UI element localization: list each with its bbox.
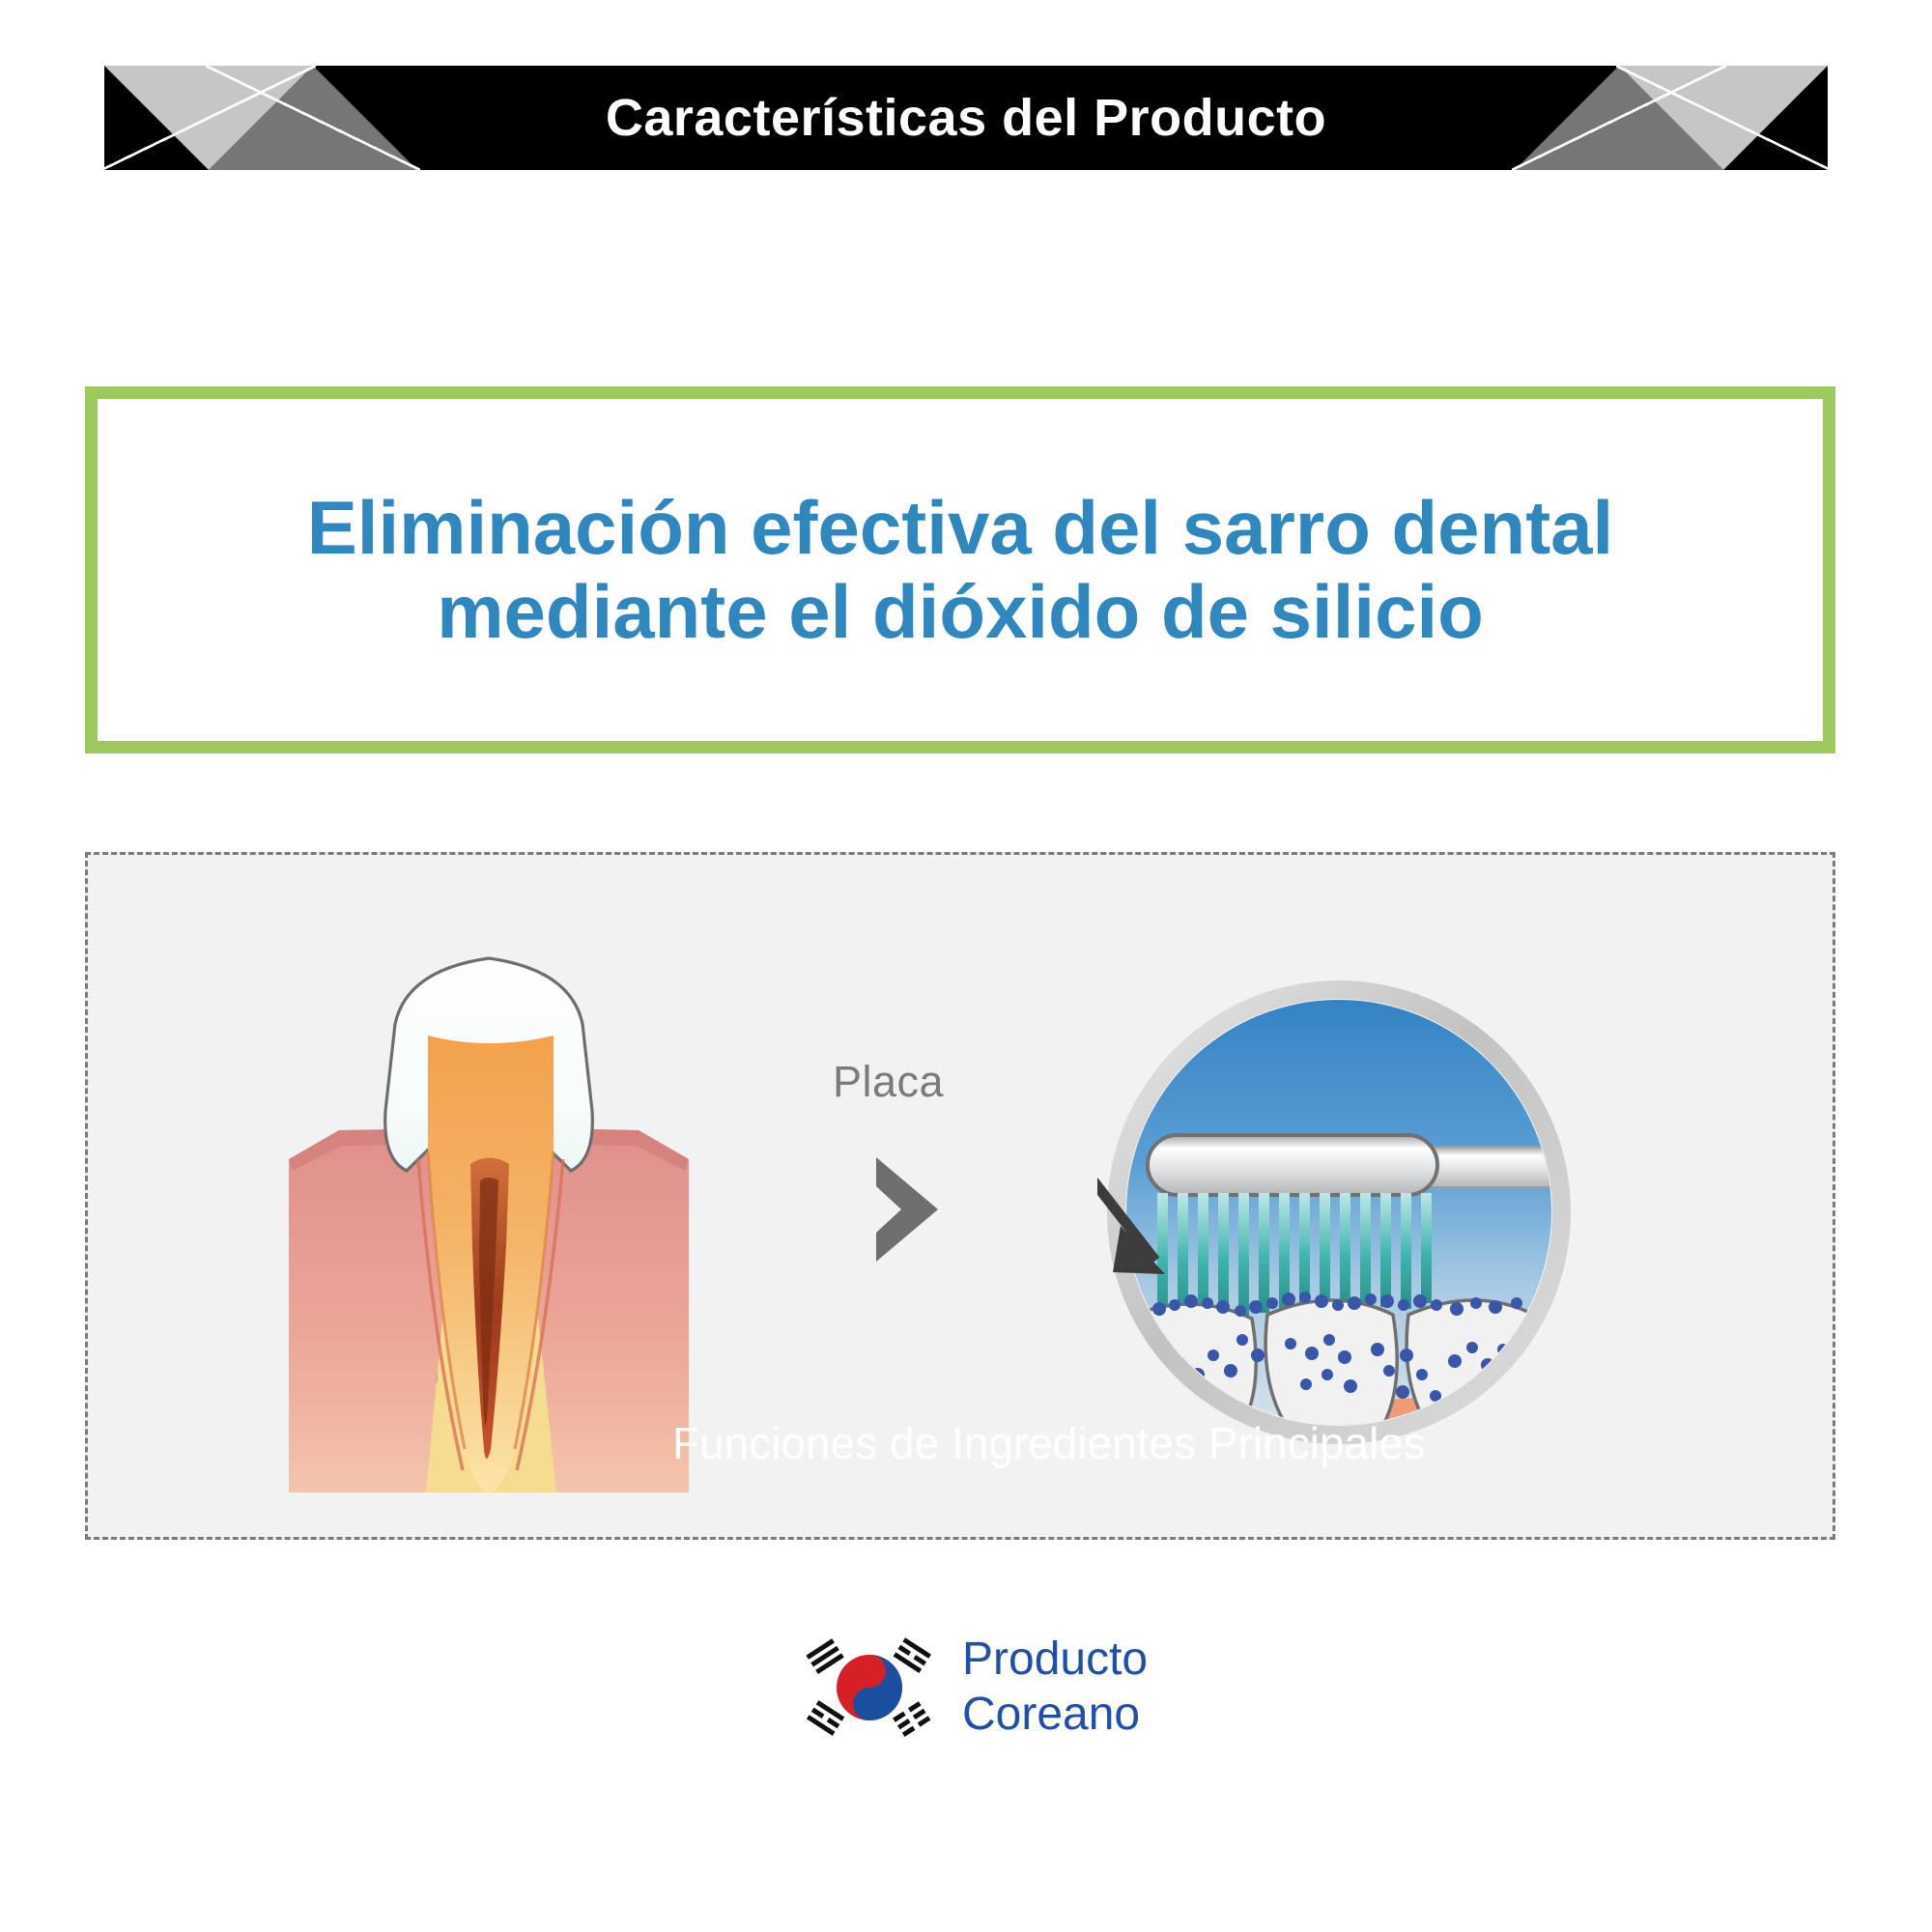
placa-label: Placa — [833, 1057, 944, 1107]
illustration-panel: Funciones de Ingredientes Principales — [85, 852, 1835, 1540]
watermark-text: Funciones de Ingredientes Principales — [672, 1417, 1426, 1469]
chevron-right-icon — [868, 1151, 946, 1267]
feature-title-line-2: mediante el dióxido de silicio — [307, 570, 1613, 654]
toothbrush-head — [1148, 1135, 1437, 1195]
korean-product-text: Producto Coreano — [962, 1633, 1148, 1742]
footer-line-2: Coreano — [962, 1688, 1148, 1743]
page-header: Características del Producto — [0, 0, 1932, 222]
feature-title-box: Eliminación efectiva del sarro dental me… — [85, 386, 1835, 753]
taegeuk-symbol — [837, 1655, 902, 1720]
page-title: Características del Producto — [104, 66, 1828, 170]
feature-title-line-1: Eliminación efectiva del sarro dental — [307, 486, 1613, 570]
toothbrush-plaque-closeup-illustration — [1097, 971, 1580, 1454]
footer-line-1: Producto — [962, 1633, 1148, 1688]
feature-title-text: Eliminación efectiva del sarro dental me… — [269, 486, 1652, 655]
tooth-cross-section-illustration — [281, 927, 696, 1497]
korean-flag-icon — [802, 1634, 937, 1741]
korean-product-badge: Producto Coreano — [802, 1633, 1148, 1742]
